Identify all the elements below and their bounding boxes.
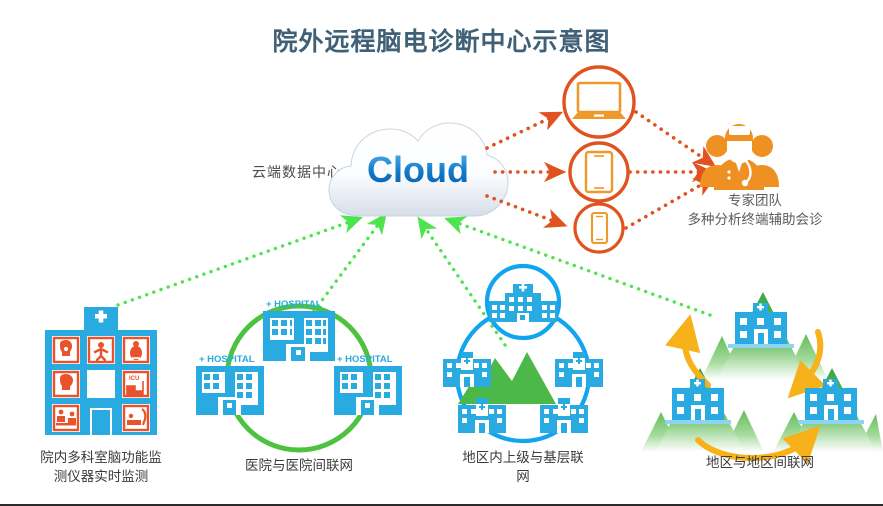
expert-caption-line1: 专家团队 xyxy=(630,192,880,211)
cloud-badge: Cloud xyxy=(367,149,469,190)
region-top-hospital xyxy=(487,266,559,338)
caption-line1: 地区与地区间联网 xyxy=(660,453,860,472)
caption-line1: 医院与医院间联网 xyxy=(199,456,399,475)
terminal-laptop[interactable] xyxy=(564,67,634,137)
diagram-canvas: 院外远程脑电诊断中心示意图 云端数据中心 xyxy=(0,0,883,506)
svg-text:ICU: ICU xyxy=(129,376,139,382)
region4-hospital-top xyxy=(728,303,794,348)
expert-caption: 专家团队 多种分析终端辅助会诊 xyxy=(630,192,880,230)
caption-in-hospital: 院内多科室脑功能监 测仪器实时监测 xyxy=(6,448,196,486)
caption-hospital-to-hospital: 医院与医院间联网 xyxy=(199,456,399,475)
caption-line2: 测仪器实时监测 xyxy=(6,467,196,486)
region4-hospital-right xyxy=(798,379,864,424)
node-hospital-to-hospital[interactable]: + HOSPITAL + HOSPITAL + HOSPITAL xyxy=(196,299,402,450)
hospital-label-right: + HOSPITAL xyxy=(337,354,393,365)
laptop-ring xyxy=(564,67,634,137)
hospital-window-desk-consult-icon xyxy=(52,404,80,432)
node-region-tiered[interactable] xyxy=(443,266,603,441)
phone-ring xyxy=(575,204,623,252)
diagram-svg: Cloud xyxy=(0,0,883,506)
expert-caption-line2: 多种分析终端辅助会诊 xyxy=(630,211,880,230)
caption-region-to-region: 地区与地区间联网 xyxy=(660,453,860,472)
hospital-window-brain-gear-icon xyxy=(52,336,80,364)
hospital-label-top: + HOSPITAL xyxy=(266,299,322,310)
hospital-building-right xyxy=(334,366,402,415)
region-small-hospital-upper-left xyxy=(443,352,491,387)
caption-region-tiered: 地区内上级与基层联 网 xyxy=(433,448,613,486)
caption-line2: 网 xyxy=(433,467,613,486)
hospital-window-child-icon xyxy=(87,336,115,364)
node-region-to-region[interactable] xyxy=(641,292,883,458)
hospital-window-blank xyxy=(87,370,115,398)
caption-line1: 地区内上级与基层联 xyxy=(433,448,613,467)
doctor-team-icon[interactable] xyxy=(700,124,779,190)
hospital-window-icu-bed-icon: ICU xyxy=(122,370,150,398)
region-small-hospital-upper-right xyxy=(555,352,603,387)
hospital-window-baby-icon xyxy=(122,336,150,364)
cloud-node[interactable]: Cloud xyxy=(329,123,508,216)
region4-hospital-left xyxy=(665,379,731,424)
uplink-arrow-1 xyxy=(118,221,352,305)
hospital-building-top xyxy=(263,311,335,361)
terminal-tablet[interactable] xyxy=(570,143,628,201)
caption-line1: 院内多科室脑功能监 xyxy=(6,448,196,467)
tablet-icon xyxy=(586,152,612,192)
hospital-label-left: + HOSPITAL xyxy=(199,354,255,365)
hospital-window-patient-bed-icon xyxy=(122,404,150,432)
laptop-icon xyxy=(572,83,626,119)
downlink-arrow-laptop xyxy=(487,117,552,148)
hospital-building-left xyxy=(196,366,264,415)
terminal-phone[interactable] xyxy=(575,204,623,252)
expert-arrow-from-laptop xyxy=(636,112,706,160)
phone-icon xyxy=(592,213,607,243)
node-in-hospital[interactable]: ICU xyxy=(45,307,157,435)
hospital-window-brain-icon xyxy=(52,370,80,398)
